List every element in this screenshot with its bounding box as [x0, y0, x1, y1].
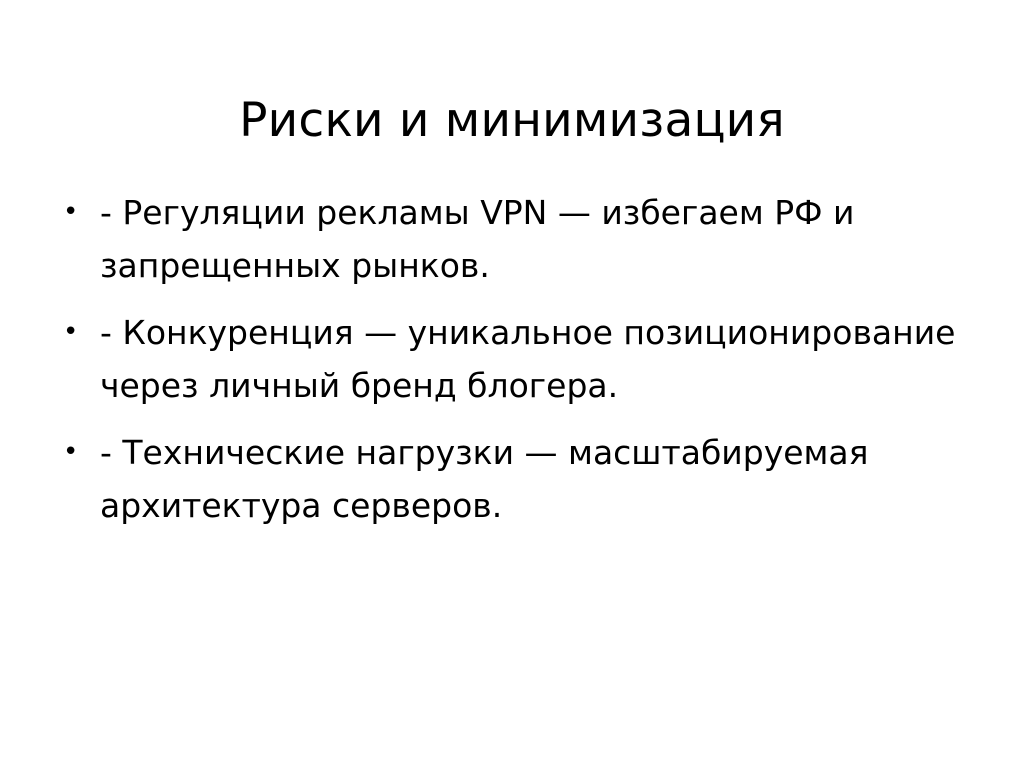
page-title: Риски и минимизация — [0, 93, 1024, 149]
bullet-text: - Регуляции рекламы VPN — избегаем РФ и … — [100, 186, 960, 292]
bullet-text: - Технические нагрузки — масштабируемая … — [100, 426, 960, 532]
bullet-dot-icon: • — [63, 426, 83, 479]
list-item: • - Регуляции рекламы VPN — избегаем РФ … — [55, 186, 960, 292]
bullet-list: • - Регуляции рекламы VPN — избегаем РФ … — [55, 186, 960, 532]
list-item: • - Технические нагрузки — масштабируема… — [55, 426, 960, 532]
bullet-text: - Конкуренция — уникальное позиционирова… — [100, 306, 960, 412]
presentation-slide: Риски и минимизация • - Регуляции реклам… — [0, 0, 1024, 767]
list-item: • - Конкуренция — уникальное позициониро… — [55, 306, 960, 412]
bullet-dot-icon: • — [63, 186, 83, 239]
bullet-dot-icon: • — [63, 306, 83, 359]
